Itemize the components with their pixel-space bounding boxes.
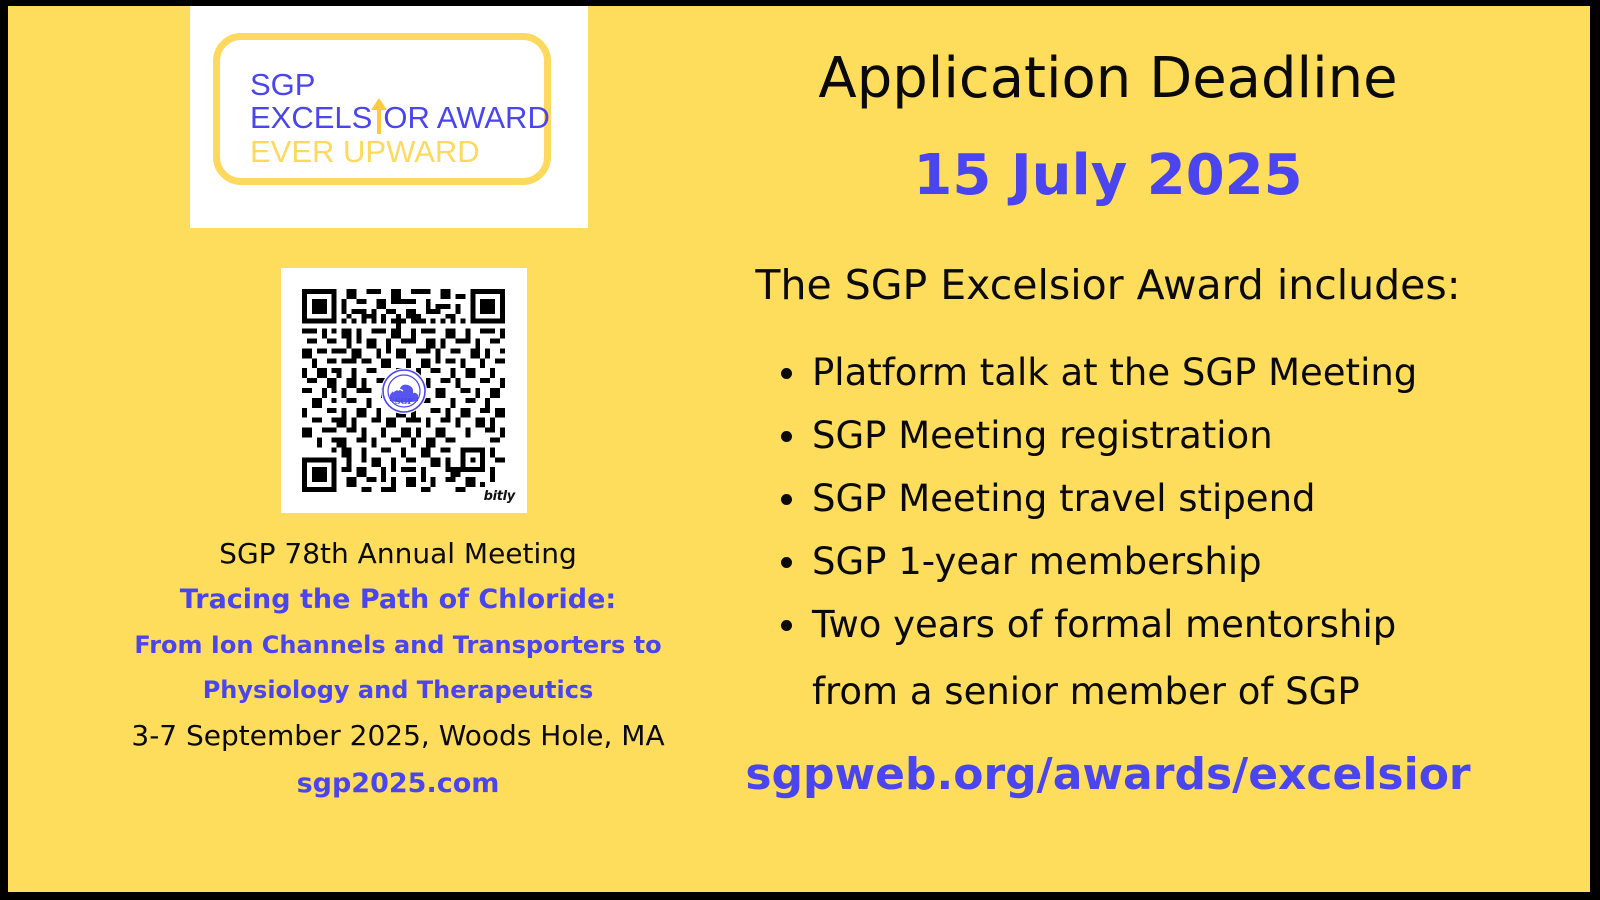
- meeting-info-block: SGP 78th Annual Meeting Tracing the Path…: [18, 531, 778, 809]
- poster-root: SGP EXCELSOR AWARD EVER UPWARD: [0, 0, 1600, 900]
- sgp-seal-wave-icon: SGP: [381, 368, 427, 414]
- meeting-name: SGP 78th Annual Meeting: [18, 531, 778, 577]
- award-url-link[interactable]: sgpweb.org/awards/excelsior: [698, 746, 1518, 804]
- benefits-heading: The SGP Excelsior Award includes:: [698, 259, 1518, 311]
- bitly-watermark: bitly: [484, 489, 515, 504]
- list-item-label: SGP Meeting travel stipend: [812, 477, 1316, 520]
- logo-line-ever-upward: EVER UPWARD: [250, 135, 550, 169]
- meeting-theme-line-3: Physiology and Therapeutics: [18, 668, 778, 713]
- bullet-icon: [781, 620, 792, 631]
- bullet-icon: [781, 431, 792, 442]
- up-arrow-icon: [372, 107, 383, 131]
- benefits-list: Platform talk at the SGP Meeting SGP Mee…: [776, 341, 1576, 656]
- list-item: SGP Meeting travel stipend: [776, 467, 1576, 530]
- logo-wordmark: SGP EXCELSOR AWARD EVER UPWARD: [250, 68, 550, 169]
- qr-code-panel[interactable]: SGP bitly: [281, 268, 527, 513]
- logo-excels-text: EXCELS: [250, 100, 372, 135]
- logo-line-sgp: SGP: [250, 68, 550, 101]
- list-item-label: Platform talk at the SGP Meeting: [812, 351, 1417, 394]
- list-item-label: Two years of formal mentorship: [812, 603, 1396, 646]
- list-item-continuation: from a senior member of SGP: [812, 666, 1360, 718]
- poster-canvas: SGP EXCELSOR AWARD EVER UPWARD: [8, 6, 1590, 892]
- list-item: Platform talk at the SGP Meeting: [776, 341, 1576, 404]
- list-item-label: SGP Meeting registration: [812, 414, 1273, 457]
- application-deadline-label: Application Deadline: [698, 48, 1518, 110]
- list-item-label: SGP 1-year membership: [812, 540, 1262, 583]
- meeting-theme-line-2: From Ion Channels and Transporters to: [18, 623, 778, 668]
- bullet-icon: [781, 368, 792, 379]
- meeting-theme-line-1: Tracing the Path of Chloride:: [18, 577, 778, 623]
- list-item: SGP 1-year membership: [776, 530, 1576, 593]
- list-item: Two years of formal mentorship: [776, 593, 1576, 656]
- svg-text:SGP: SGP: [395, 396, 414, 406]
- list-item: SGP Meeting registration: [776, 404, 1576, 467]
- logo-line-excelsior-award: EXCELSOR AWARD: [250, 101, 550, 135]
- meeting-website-link[interactable]: sgp2025.com: [18, 759, 778, 809]
- bullet-icon: [781, 494, 792, 505]
- meeting-dates-location: 3-7 September 2025, Woods Hole, MA: [18, 713, 778, 759]
- application-deadline-date: 15 July 2025: [698, 144, 1518, 208]
- logo-rounded-frame: SGP EXCELSOR AWARD EVER UPWARD: [213, 33, 551, 185]
- bullet-icon: [781, 557, 792, 568]
- excelsior-logo-panel: SGP EXCELSOR AWARD EVER UPWARD: [190, 6, 588, 228]
- right-column: Application Deadline 15 July 2025 The SG…: [698, 6, 1580, 892]
- logo-or-award-text: OR AWARD: [383, 100, 550, 135]
